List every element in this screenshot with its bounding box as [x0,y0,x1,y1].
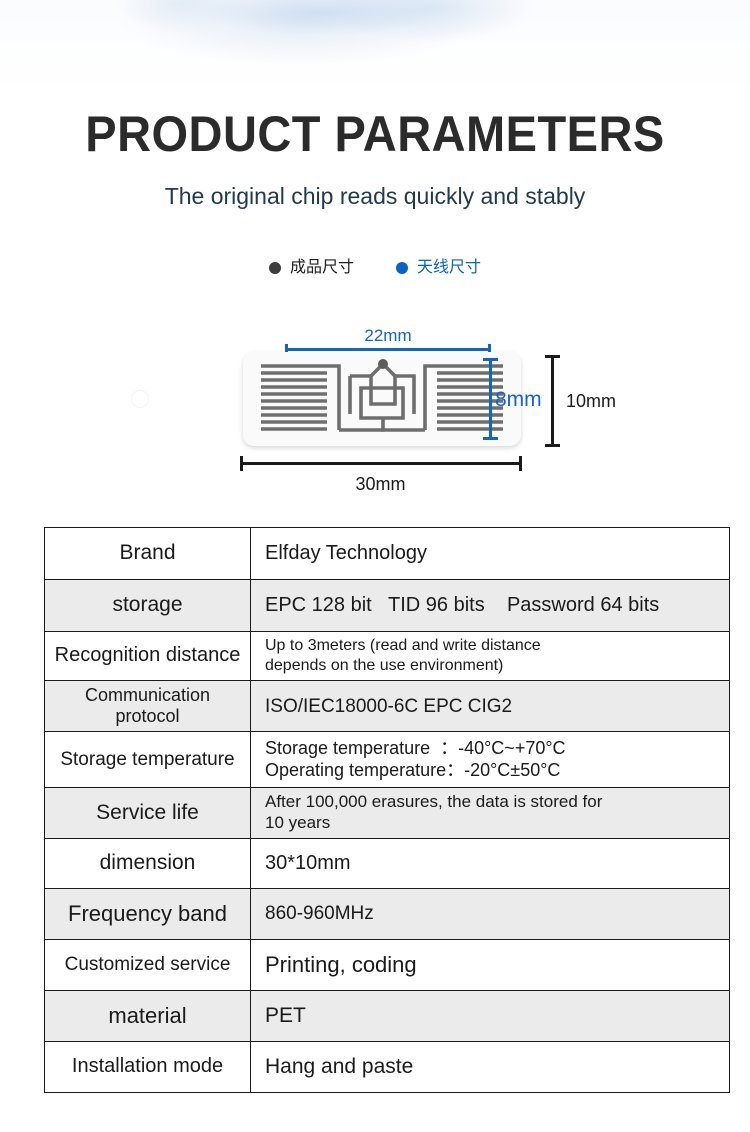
specification-table-body: BrandElfday TechnologystorageEPC 128 bit… [45,528,730,1093]
spec-value-line: Storage temperature ：-40°C~+70°C [265,738,725,760]
spec-label-cell: Storage temperature [45,732,251,788]
dimension-label-antenna-width: 22mm [285,325,491,347]
spec-value-line: ISO/IEC18000-6C EPC CIG2 [265,695,725,718]
spec-label-cell: Customized service [45,939,251,990]
spec-value-line: Hang and paste [265,1054,725,1080]
spec-value-line: 30*10mm [265,851,725,875]
spec-value-line: After 100,000 erasures, the data is stor… [265,792,725,813]
spec-value-cell: Hang and paste [251,1041,730,1092]
dimension-line-antenna-height [489,358,492,440]
spec-value-line: PET [265,1003,725,1029]
dimension-label-tag-height: 10mm [566,389,616,413]
table-row: materialPET [45,990,730,1041]
page-title: PRODUCT PARAMETERS [23,104,728,164]
dimension-cap-icon [545,355,560,358]
top-background-wash-accent [150,0,490,60]
table-row: Communication protocolISO/IEC18000-6C EP… [45,681,730,732]
spec-value-cell: Up to 3meters (read and write distancede… [251,632,730,681]
spec-label-cell: Recognition distance [45,632,251,681]
spec-value-cell: 30*10mm [251,838,730,888]
table-row: Storage temperatureStorage temperature ：… [45,732,730,788]
spec-value-cell: Storage temperature ：-40°C~+70°COperatin… [251,732,730,788]
product-parameters-page: PRODUCT PARAMETERS The original chip rea… [0,0,750,1132]
legend-item-label: 天线尺寸 [417,258,481,278]
dimension-line-tag-height [551,355,554,447]
spec-value-line: 10 years [265,813,725,834]
spec-value-cell: 860-960MHz [251,888,730,939]
legend-dot-icon [269,262,281,274]
spec-value-line: Elfday Technology [265,541,725,565]
spec-value-cell: PET [251,990,730,1041]
legend-item-finished-size: 成品尺寸 [269,258,354,278]
dimension-cap-icon [483,437,498,440]
spec-value-cell: Printing, coding [251,939,730,990]
spec-label-cell: Service life [45,788,251,838]
spec-label-cell: Communication protocol [45,681,251,732]
spec-value-line: Up to 3meters (read and write distance [265,636,725,656]
legend-dot-icon [396,262,408,274]
table-row: storageEPC 128 bit TID 96 bits Password … [45,580,730,632]
dimension-cap-icon [240,456,243,471]
rfid-tag-card [243,352,521,446]
legend-item-label: 成品尺寸 [290,258,354,278]
spec-label-cell: dimension [45,838,251,888]
rfid-antenna-graphic [243,352,521,446]
page-subtitle: The original chip reads quickly and stab… [0,180,750,212]
size-legend: 成品尺寸 天线尺寸 [0,258,750,278]
dimension-cap-icon [519,456,522,471]
spec-value-line: EPC 128 bit TID 96 bits Password 64 bits [265,593,725,617]
spec-value-cell: ISO/IEC18000-6C EPC CIG2 [251,681,730,732]
table-row: Recognition distanceUp to 3meters (read … [45,632,730,681]
dimension-line-antenna-width [285,348,491,351]
spec-value-cell: EPC 128 bit TID 96 bits Password 64 bits [251,580,730,632]
spec-value-line: depends on the use environment) [265,656,725,676]
table-row: Service lifeAfter 100,000 erasures, the … [45,788,730,838]
specification-table: BrandElfday TechnologystorageEPC 128 bit… [44,527,730,1093]
table-row: Customized servicePrinting, coding [45,939,730,990]
top-background-wash [0,0,750,95]
table-row: Installation modeHang and paste [45,1041,730,1092]
table-row: BrandElfday Technology [45,528,730,580]
spec-label-cell: Frequency band [45,888,251,939]
spec-value-cell: After 100,000 erasures, the data is stor… [251,788,730,838]
table-row: dimension30*10mm [45,838,730,888]
dimension-line-tag-width [240,462,521,465]
spec-label-cell: Brand [45,528,251,580]
spec-label-cell: storage [45,580,251,632]
dimension-label-antenna-height: 8mm [495,387,542,413]
spec-value-line: Operating temperature：-20°C±50°C [265,760,725,782]
dimension-cap-icon [483,358,498,361]
dimension-label-tag-width: 30mm [240,472,521,496]
legend-item-antenna-size: 天线尺寸 [396,258,481,278]
spec-value-line: 860-960MHz [265,902,725,925]
table-row: Frequency band860-960MHz [45,888,730,939]
spec-label-cell: material [45,990,251,1041]
spec-value-line: Printing, coding [265,952,725,979]
spec-value-cell: Elfday Technology [251,528,730,580]
spec-label-cell: Installation mode [45,1041,251,1092]
dimension-cap-icon [545,444,560,447]
watermark-circle-icon [131,390,149,408]
